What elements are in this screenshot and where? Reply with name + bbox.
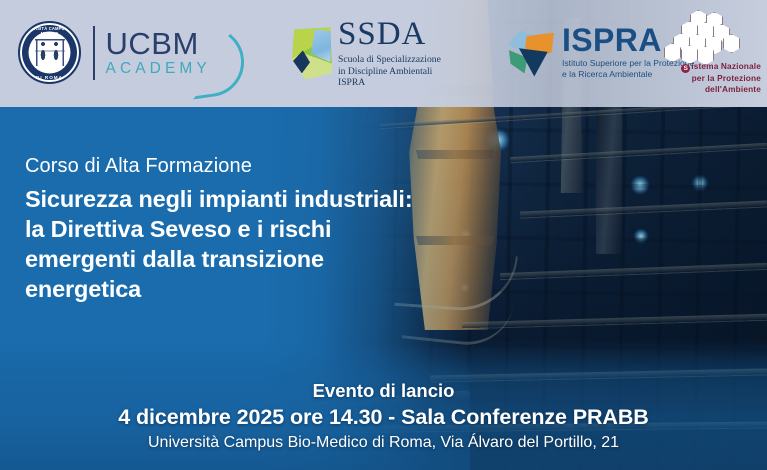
logo-snpa: Sistema Nazionale per la Protezione dell…: [656, 10, 761, 94]
event-info-block: Evento di lancio 4 dicembre 2025 ore 14.…: [0, 379, 767, 454]
title-block: Corso di Alta Formazione Sicurezza negli…: [25, 155, 455, 304]
headline-line-3: emergenti dalla transizione: [25, 244, 455, 274]
tertiary-stack: [596, 104, 622, 254]
seal-arc-bottom-text: DI ROMA: [20, 75, 79, 80]
logo-ssda: SSDA Scuola di Specializzazione in Disci…: [292, 18, 441, 89]
ucbm-swoosh-icon: [183, 22, 248, 99]
snpa-wordmark: Sistema Nazionale per la Protezione dell…: [656, 61, 761, 94]
ucbm-seal-icon: UNIVERSITÀ CAMPUS BIO-MEDICO DI ROMA: [18, 21, 81, 84]
headline-line-4: energetica: [25, 274, 455, 304]
ucbm-wordmark: UCBM ACADEMY: [106, 28, 231, 77]
logo-header-band: UNIVERSITÀ CAMPUS BIO-MEDICO DI ROMA UCB…: [0, 0, 767, 107]
ssda-mosaic-icon: [292, 27, 332, 79]
event-banner: UNIVERSITÀ CAMPUS BIO-MEDICO DI ROMA UCB…: [0, 0, 767, 470]
ssda-sub-line-3: ISPRA: [338, 77, 441, 89]
seal-emblem: [29, 32, 70, 73]
ssda-wordmark: SSDA Scuola di Specializzazione in Disci…: [338, 18, 441, 89]
course-kicker: Corso di Alta Formazione: [25, 155, 455, 178]
ispra-diamond-icon: [508, 29, 554, 77]
snpa-line-2: per la Protezione: [656, 73, 761, 84]
ssda-main-text: SSDA: [338, 18, 441, 51]
event-kicker: Evento di lancio: [0, 379, 767, 403]
ssda-sub-line-1: Scuola di Specializzazione: [338, 54, 441, 66]
snpa-line-3: dell'Ambiente: [656, 84, 761, 95]
headline-line-2: la Direttiva Seveso e i rischi: [25, 214, 455, 244]
logo-divider: [93, 26, 95, 80]
page-title: Sicurezza negli impianti industriali: la…: [25, 184, 455, 304]
event-venue: Università Campus Bio-Medico di Roma, Vi…: [0, 432, 767, 454]
logo-ucbm-academy: UNIVERSITÀ CAMPUS BIO-MEDICO DI ROMA UCB…: [18, 21, 231, 84]
headline-line-1: Sicurezza negli impianti industriali:: [25, 184, 455, 214]
snpa-logo-body: Sistema Nazionale per la Protezione dell…: [656, 10, 761, 94]
snpa-honeycomb-icon: [656, 10, 761, 62]
seal-figures-icon: [35, 40, 65, 66]
event-datetime-location: 4 dicembre 2025 ore 14.30 - Sala Confere…: [0, 403, 767, 432]
ssda-sub-line-2: in Discipline Ambientali: [338, 66, 441, 78]
snpa-s-badge: S: [681, 64, 690, 73]
ssda-sub-text: Scuola di Specializzazione in Discipline…: [338, 54, 441, 89]
